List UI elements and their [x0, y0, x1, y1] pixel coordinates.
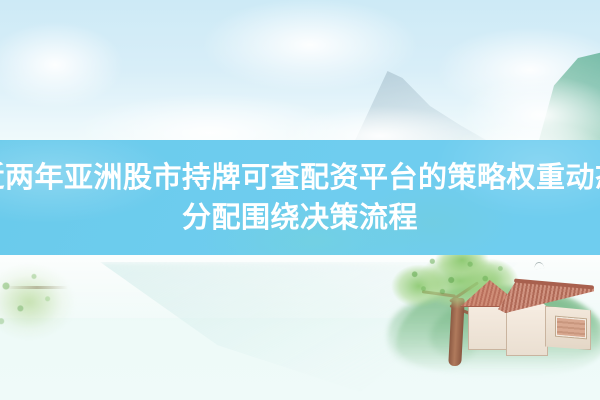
banner-title: 近两年亚洲股市持牌可查配资平台的策略权重动态 分配围绕决策流程	[0, 140, 600, 255]
cottage-front-gable	[502, 286, 550, 310]
cottage-main-roof	[498, 282, 594, 313]
cottage-roof-ridge	[514, 279, 594, 290]
banner-title-line-1: 近两年亚洲股市持牌可查配资平台的策略权重动态	[0, 159, 600, 197]
bush-mass	[388, 300, 478, 372]
cottage-rear-gable	[466, 284, 514, 306]
tree-branch	[422, 290, 456, 297]
cottage-illustration	[462, 278, 594, 360]
cottage-rear-roof	[460, 280, 522, 307]
lower-haze	[0, 248, 600, 318]
tree-branch	[449, 281, 479, 302]
cottage-window	[556, 317, 586, 339]
cloud-shape	[0, 5, 150, 125]
bush-mass	[396, 286, 600, 376]
left-foliage-tuft	[0, 256, 84, 348]
title-band: 近两年亚洲股市持牌可查配资平台的策略权重动态 分配围绕决策流程	[0, 140, 600, 255]
tree-canopy	[412, 250, 508, 312]
teal-wash-sweep	[100, 262, 520, 392]
article-banner-image: 近两年亚洲股市持牌可查配资平台的策略权重动态 分配围绕决策流程	[0, 0, 600, 400]
tree-canopy	[388, 262, 450, 310]
tree-canopy	[458, 256, 522, 306]
bush-mass	[430, 296, 600, 366]
bird-icon	[534, 261, 545, 269]
tree-illustration	[398, 254, 518, 366]
cloud-shape	[400, 10, 600, 130]
tree-branch	[449, 304, 478, 318]
cottage-front-wall	[506, 306, 548, 356]
cottage-side-wall	[545, 306, 591, 350]
banner-title-line-2: 分配围绕决策流程	[182, 199, 418, 237]
tree-trunk	[448, 298, 465, 366]
cottage-rear-wall	[468, 302, 514, 350]
left-twig	[6, 286, 68, 289]
cloud-shape	[160, 0, 460, 110]
left-leaf-specks	[0, 262, 70, 342]
